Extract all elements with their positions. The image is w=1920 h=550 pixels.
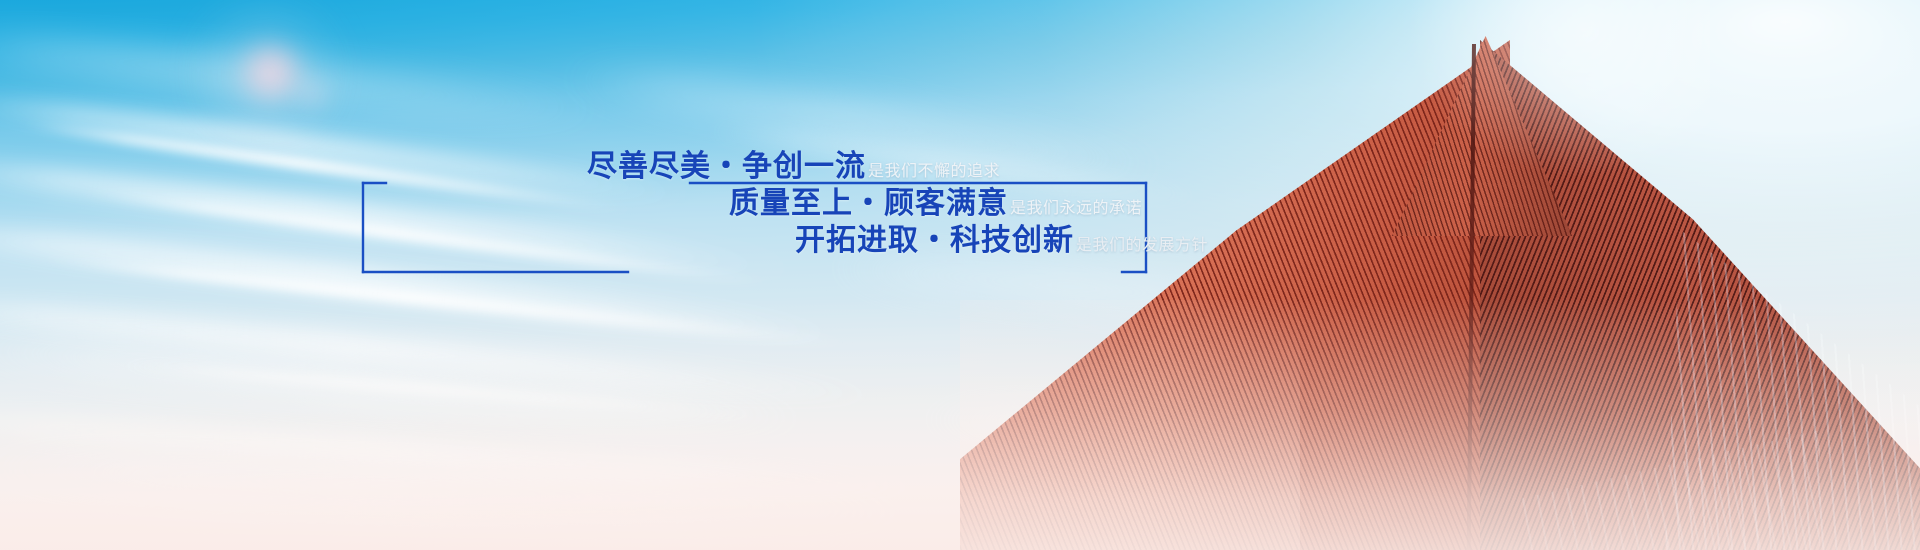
- building-sky-glow: [1290, 0, 1710, 300]
- slogan-line-1: 尽善尽美・争创一流 是我们不懈的追求: [360, 152, 1160, 182]
- slogan-block: 尽善尽美・争创一流 是我们不懈的追求 质量至上・顾客满意 是我们永远的承诺 开拓…: [360, 150, 1160, 300]
- slogan-line-2-subtext: 是我们永远的承诺: [1010, 200, 1142, 216]
- slogan-line-3: 开拓进取・科技创新 是我们的发展方针: [408, 226, 1208, 256]
- horizon-haze: [0, 297, 1920, 550]
- slogan-line-1-headline: 尽善尽美・争创一流: [587, 152, 866, 182]
- slogan-line-3-subtext: 是我们的发展方针: [1076, 237, 1208, 253]
- slogan-line-2: 质量至上・顾客满意 是我们永远的承诺: [360, 189, 1160, 219]
- slogan-line-1-subtext: 是我们不懈的追求: [868, 163, 1000, 179]
- slogan-line-3-headline: 开拓进取・科技创新: [795, 226, 1074, 256]
- slogan-line-2-headline: 质量至上・顾客满意: [729, 189, 1008, 219]
- slogan-lines: 尽善尽美・争创一流 是我们不懈的追求 质量至上・顾客满意 是我们永远的承诺 开拓…: [360, 150, 1160, 256]
- hero-banner: 尽善尽美・争创一流 是我们不懈的追求 质量至上・顾客满意 是我们永远的承诺 开拓…: [0, 0, 1920, 550]
